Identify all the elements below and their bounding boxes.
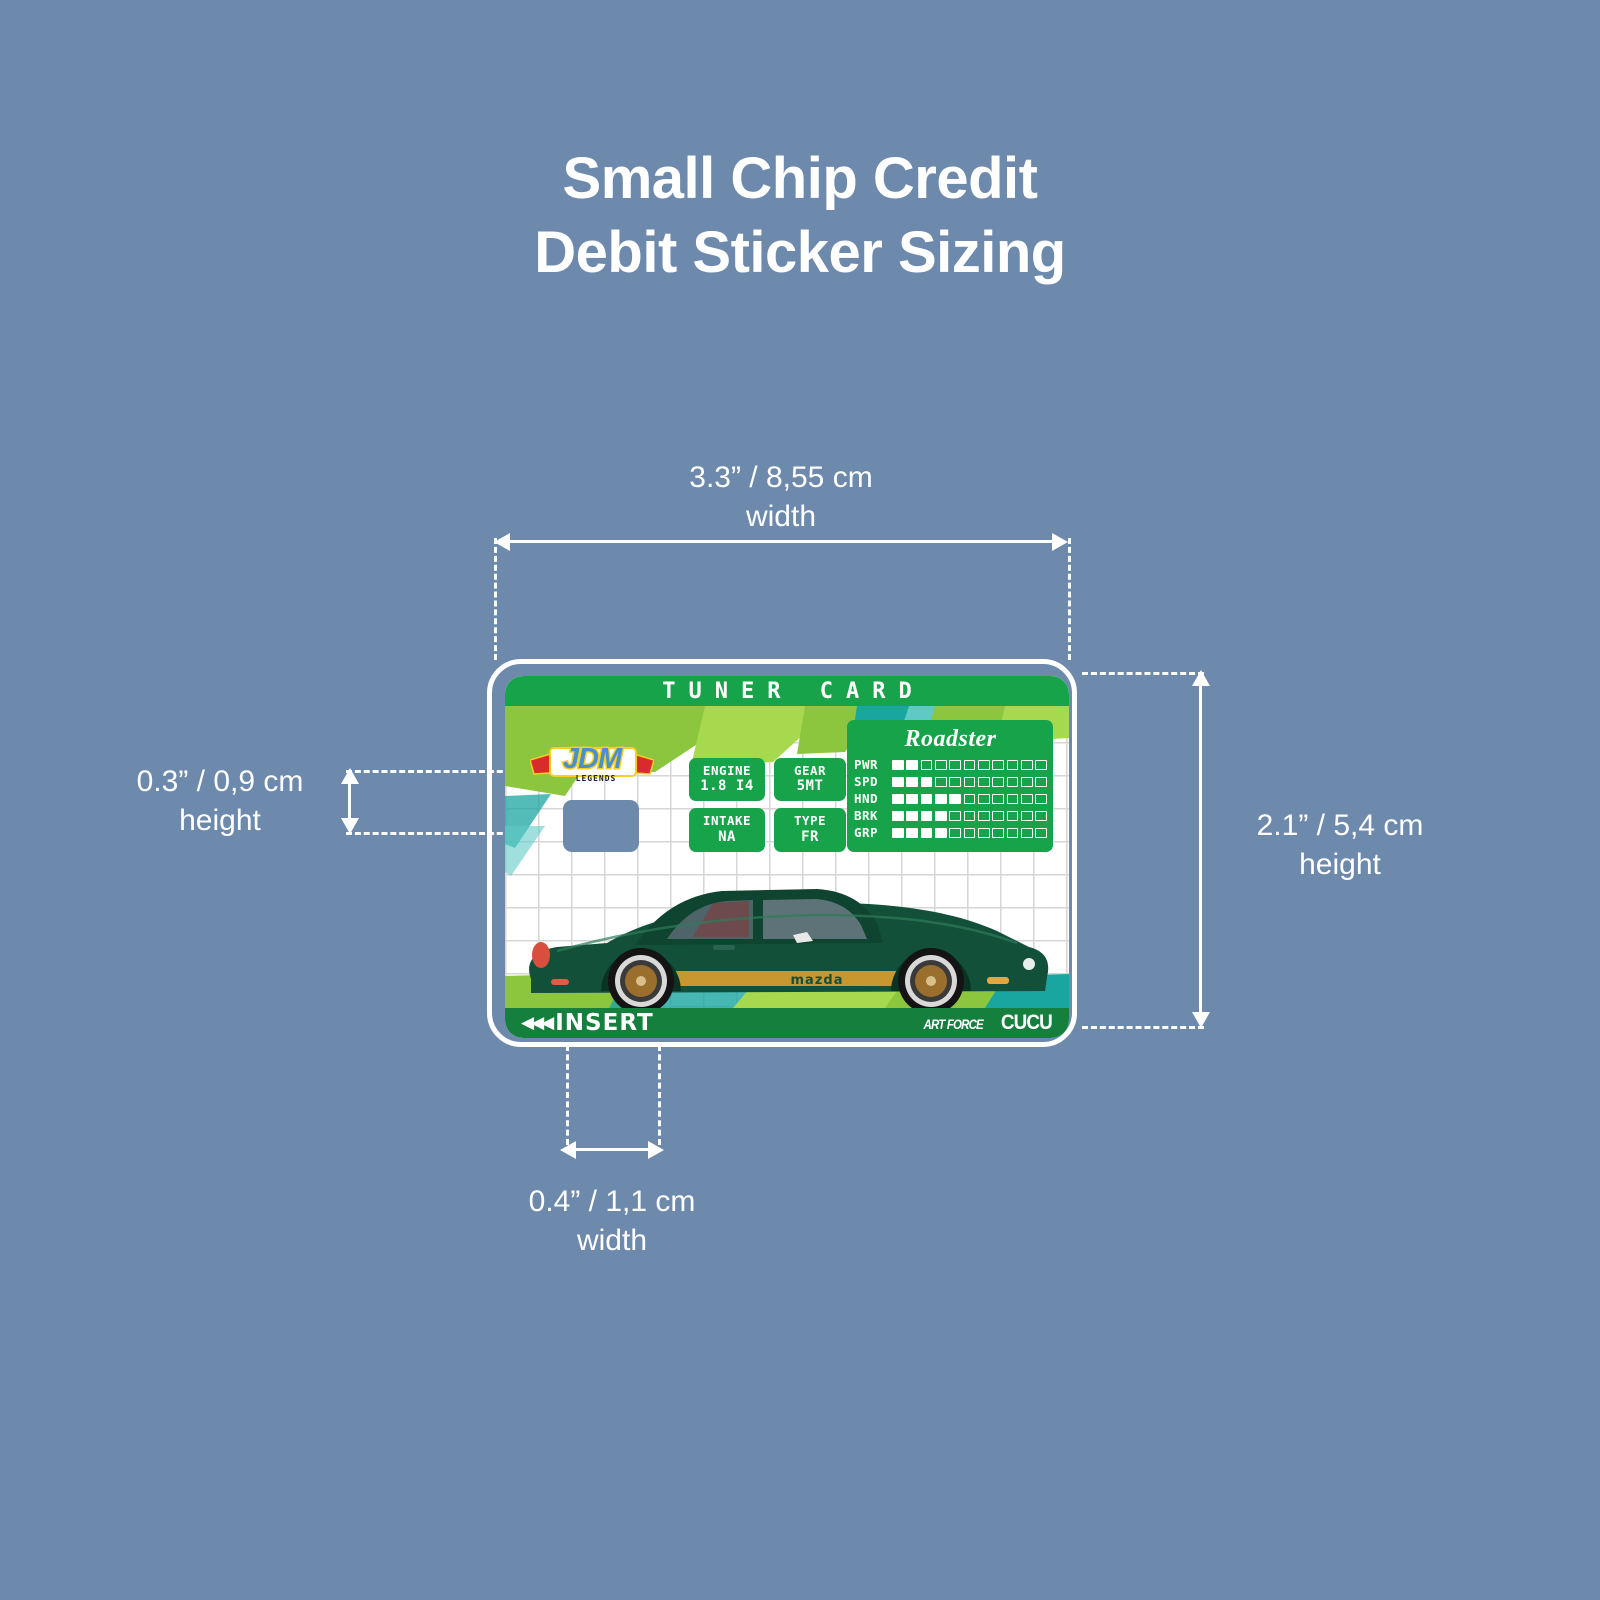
spec-engine-value: 1.8 I4 — [691, 778, 763, 795]
spec-type: TYPE FR — [774, 808, 846, 851]
stat-segment — [892, 760, 904, 770]
stat-segment — [921, 828, 933, 838]
stat-segment — [1007, 777, 1019, 787]
width-top-label: width — [633, 497, 929, 536]
stat-segment — [935, 811, 947, 821]
stat-name: GRP — [854, 825, 892, 840]
arrow-up-height-left — [341, 768, 359, 784]
car-make-text: mazda — [791, 973, 844, 988]
stat-segment — [992, 760, 1004, 770]
brand-group: ART FORCE CUCU — [917, 1011, 1055, 1035]
stat-segment — [906, 811, 918, 821]
spec-intake-key: INTAKE — [691, 813, 763, 828]
width-top-value: 3.3” / 8,55 cm — [689, 461, 872, 494]
stat-row: HND — [854, 790, 1047, 807]
height-right-label: height — [1216, 845, 1464, 884]
spec-engine-key: ENGINE — [691, 763, 763, 778]
arrow-down-height-right — [1192, 1012, 1210, 1028]
stat-bar — [892, 777, 1047, 787]
width-bottom-value: 0.4” / 1,1 cm — [529, 1185, 696, 1218]
stat-segment — [949, 760, 961, 770]
car-front-indicator — [987, 977, 1009, 984]
dimension-label-height-left: 0.3” / 0,9 cm height — [110, 762, 330, 840]
height-left-value: 0.3” / 0,9 cm — [137, 765, 304, 798]
stat-segment — [949, 828, 961, 838]
stat-segment — [1021, 811, 1033, 821]
guide-card-top-horizontal — [1082, 672, 1204, 675]
stat-name: HND — [854, 791, 892, 806]
arrow-right-width-bottom — [648, 1141, 664, 1159]
stat-segment — [1007, 760, 1019, 770]
stat-segment — [992, 828, 1004, 838]
stat-segment — [1021, 777, 1033, 787]
page-root: Small Chip Credit Debit Sticker Sizing 3… — [0, 0, 1600, 1600]
spec-gear-key: GEAR — [776, 763, 844, 778]
stat-bars: PWRSPDHNDBRKGRP — [854, 756, 1047, 841]
stat-segment — [892, 777, 904, 787]
stat-segment — [1035, 811, 1047, 821]
stat-segment — [949, 777, 961, 787]
arrow-up-height-right — [1192, 670, 1210, 686]
title-line-1: Small Chip Credit — [563, 146, 1038, 211]
car-rear-reflector — [551, 979, 569, 985]
stat-row: PWR — [854, 756, 1047, 773]
car-rear-wheel — [608, 948, 674, 1014]
stat-segment — [964, 777, 976, 787]
card-header-title: TUNER CARD — [649, 679, 924, 704]
stat-segment — [906, 828, 918, 838]
stat-segment — [935, 794, 947, 804]
arrow-left-width-top — [494, 533, 510, 551]
chip-cutout — [563, 800, 639, 852]
stat-segment — [892, 811, 904, 821]
dimension-line-height-right — [1199, 678, 1202, 1020]
stat-segment — [921, 777, 933, 787]
spec-intake-value: NA — [691, 829, 763, 846]
spec-engine: ENGINE 1.8 I4 — [689, 758, 765, 801]
stats-panel: Roadster PWRSPDHNDBRKGRP — [847, 720, 1053, 852]
stat-segment — [978, 777, 990, 787]
stat-segment — [935, 777, 947, 787]
stat-segment — [1035, 828, 1047, 838]
stat-segment — [1021, 760, 1033, 770]
dimension-label-width-top: 3.3” / 8,55 cm width — [633, 458, 929, 536]
stat-segment — [1021, 794, 1033, 804]
arrow-left-width-bottom — [560, 1141, 576, 1159]
dimension-line-width-bottom — [572, 1148, 652, 1151]
car-door-handle — [713, 945, 735, 950]
brand-artforce-logo: ART FORCE — [923, 1016, 982, 1032]
card-footer-band: ◀◀◀ INSERT ART FORCE CUCU — [505, 1008, 1069, 1038]
spec-grid: ENGINE 1.8 I4 GEAR 5MT INTAKE NA TYPE FR — [689, 758, 846, 852]
stat-segment — [1035, 777, 1047, 787]
stat-segment — [992, 811, 1004, 821]
stat-segment — [1007, 794, 1019, 804]
stat-segment — [921, 811, 933, 821]
stat-name: SPD — [854, 774, 892, 789]
car-headlight — [1023, 958, 1035, 970]
stat-segment — [949, 794, 961, 804]
stat-segment — [964, 794, 976, 804]
brand-cucu-logo: CUCU — [1001, 1011, 1052, 1035]
stat-segment — [935, 828, 947, 838]
stat-segment — [978, 760, 990, 770]
title-line-2: Debit Sticker Sizing — [534, 220, 1065, 285]
spec-gear-value: 5MT — [776, 778, 844, 795]
jdm-logo: JDM LEGENDS — [530, 742, 654, 788]
height-left-label: height — [110, 801, 330, 840]
car-front-wheel — [898, 948, 964, 1014]
stat-segment — [992, 777, 1004, 787]
stat-segment — [964, 811, 976, 821]
insert-arrows-icon: ◀◀◀ — [521, 1013, 551, 1033]
stat-segment — [949, 811, 961, 821]
width-bottom-label: width — [477, 1221, 747, 1260]
stat-row: BRK — [854, 807, 1047, 824]
stat-segment — [1007, 811, 1019, 821]
guide-chip-left-vertical — [566, 1045, 569, 1145]
stat-row: GRP — [854, 824, 1047, 841]
arrow-down-height-left — [341, 818, 359, 834]
height-right-value: 2.1” / 5,4 cm — [1257, 809, 1424, 842]
stat-segment — [935, 760, 947, 770]
stat-segment — [906, 794, 918, 804]
stat-segment — [892, 794, 904, 804]
stat-segment — [1035, 760, 1047, 770]
stat-segment — [906, 777, 918, 787]
stat-segment — [921, 794, 933, 804]
car-illustration: mazda — [517, 851, 1057, 1016]
guide-card-bottom-horizontal — [1082, 1026, 1204, 1029]
stat-segment — [964, 760, 976, 770]
page-title: Small Chip Credit Debit Sticker Sizing — [0, 142, 1600, 290]
stat-segment — [921, 760, 933, 770]
car-side-stripe — [650, 971, 902, 986]
guide-chip-right-vertical — [658, 1045, 661, 1145]
stat-bar — [892, 794, 1047, 804]
stat-segment — [992, 794, 1004, 804]
dimension-label-height-right: 2.1” / 5,4 cm height — [1216, 806, 1464, 884]
stat-segment — [1007, 828, 1019, 838]
stat-name: BRK — [854, 808, 892, 823]
stat-segment — [978, 811, 990, 821]
stat-segment — [1021, 828, 1033, 838]
dimension-label-width-bottom: 0.4” / 1,1 cm width — [477, 1182, 747, 1260]
stat-segment — [1035, 794, 1047, 804]
stat-segment — [978, 794, 990, 804]
card-face: TUNER CARD JDM LEGENDS ENGINE 1.8 I4 — [505, 676, 1069, 1038]
stat-bar — [892, 828, 1047, 838]
stat-segment — [892, 828, 904, 838]
guide-top-right-vertical — [1068, 538, 1071, 660]
spec-gear: GEAR 5MT — [774, 758, 846, 801]
jdm-logo-subtext: LEGENDS — [556, 774, 636, 783]
stat-bar — [892, 811, 1047, 821]
spec-type-key: TYPE — [776, 813, 844, 828]
stat-name: PWR — [854, 757, 892, 772]
jdm-logo-text: JDM — [530, 742, 654, 776]
stat-row: SPD — [854, 773, 1047, 790]
spec-type-value: FR — [776, 829, 844, 846]
insert-label: INSERT — [555, 1010, 653, 1036]
spec-intake: INTAKE NA — [689, 808, 765, 851]
model-name-label: Roadster — [854, 724, 1047, 754]
sticker-card[interactable]: TUNER CARD JDM LEGENDS ENGINE 1.8 I4 — [487, 659, 1077, 1047]
stat-bar — [892, 760, 1047, 770]
card-header-band: TUNER CARD — [505, 676, 1069, 706]
arrow-right-width-top — [1052, 533, 1068, 551]
car-taillight — [532, 942, 550, 968]
stat-segment — [906, 760, 918, 770]
stat-segment — [964, 828, 976, 838]
dimension-line-width-top — [500, 540, 1062, 543]
stat-segment — [978, 828, 990, 838]
guide-top-left-vertical — [494, 538, 497, 660]
